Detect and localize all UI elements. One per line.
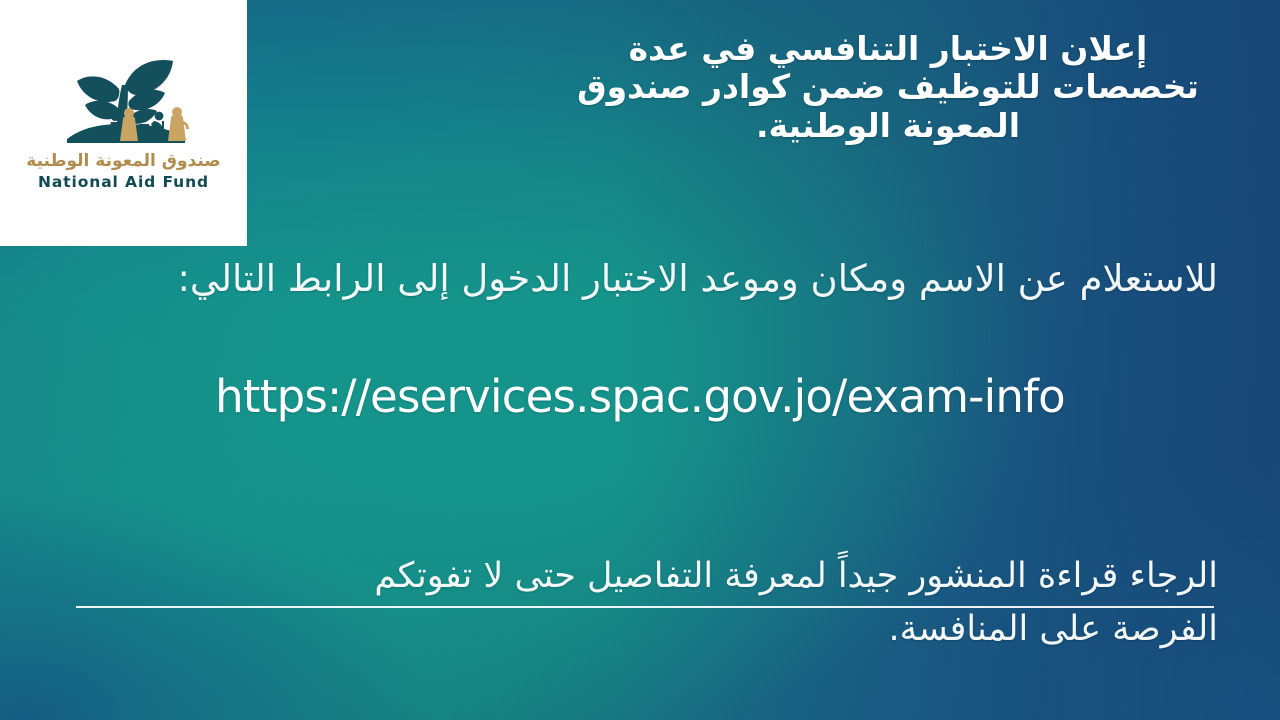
logo-arabic-name: صندوق المعونة الوطنية [26,153,220,171]
headline: إعلان الاختبار التنافسي في عدة تخصصات لل… [558,30,1218,145]
logo-card: صندوق المعونة الوطنية National Aid Fund [0,0,247,246]
exam-info-url[interactable]: https://eservices.spac.gov.jo/exam-info [0,372,1280,422]
footer-note-line-2: الفرصة على المنافسة. [66,603,1218,656]
announcement-poster: صندوق المعونة الوطنية National Aid Fund … [0,0,1280,720]
instruction-text: للاستعلام عن الاسم ومكان وموعد الاختبار … [128,252,1218,306]
footer-note: الرجاء قراءة المنشور جيداً لمعرفة التفاص… [66,550,1218,656]
plant-with-people-icon [49,55,199,151]
logo-lockup: صندوق المعونة الوطنية National Aid Fund [49,55,199,192]
footer-note-line-1: الرجاء قراءة المنشور جيداً لمعرفة التفاص… [66,550,1218,603]
logo-english-name: National Aid Fund [38,174,209,192]
footer-divider-rule [76,606,1214,608]
